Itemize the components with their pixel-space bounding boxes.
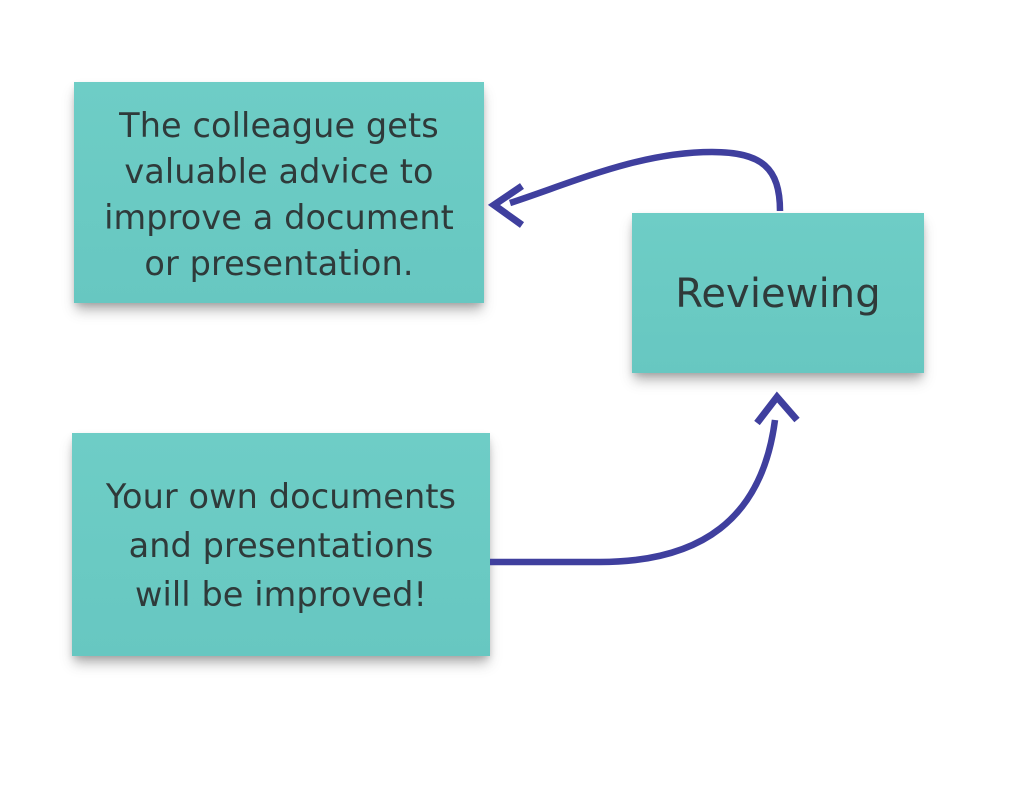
card-reviewing[interactable]: Reviewing bbox=[632, 213, 924, 373]
card-your-documents-improved[interactable]: Your own documents and presentations wil… bbox=[72, 433, 490, 656]
arrowhead-left-icon bbox=[494, 186, 522, 225]
arrow-improved-to-reviewing bbox=[490, 397, 797, 562]
card-colleague-advice[interactable]: The colleague gets valuable advice to im… bbox=[74, 82, 484, 303]
arrowhead-up-icon bbox=[757, 397, 797, 423]
card-your-documents-improved-text: Your own documents and presentations wil… bbox=[106, 472, 456, 619]
diagram-canvas: The colleague gets valuable advice to im… bbox=[0, 0, 1024, 800]
card-reviewing-text: Reviewing bbox=[675, 269, 880, 319]
card-colleague-advice-text: The colleague gets valuable advice to im… bbox=[104, 103, 454, 287]
